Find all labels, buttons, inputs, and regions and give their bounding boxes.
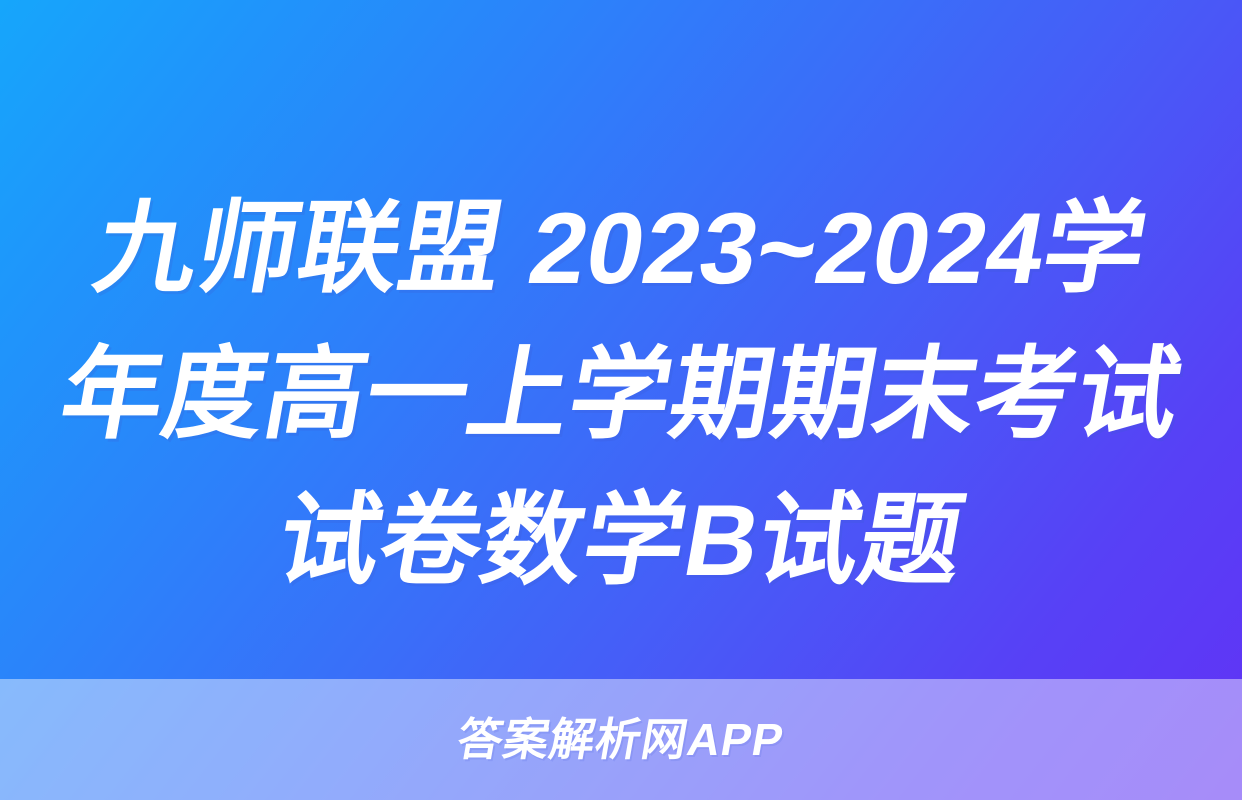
poster-canvas: 九师联盟 2023~2024学 年度高一上学期期末考试 试卷数学B试题 答案解析…	[0, 0, 1242, 800]
title-line-1: 九师联盟 2023~2024学	[11, 176, 1231, 322]
page-title: 九师联盟 2023~2024学 年度高一上学期期末考试 试卷数学B试题	[0, 176, 1242, 614]
title-line-3: 试卷数学B试题	[11, 468, 1231, 614]
watermark-label: 答案解析网APP	[454, 717, 787, 762]
watermark-band: 答案解析网APP	[0, 679, 1242, 800]
title-line-2: 年度高一上学期期末考试	[11, 322, 1231, 468]
